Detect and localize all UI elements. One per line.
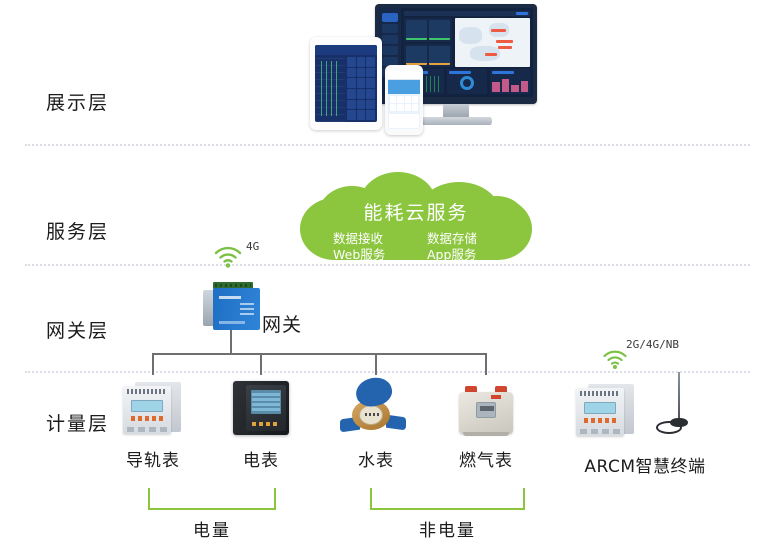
cloud-service-columns: 数据接收 Web服务 数据存储 App服务	[333, 231, 499, 263]
cloud-item-app-service: App服务	[427, 247, 499, 263]
phone-statusbar	[388, 71, 420, 80]
tablet-icon	[310, 37, 382, 130]
gateway-device-icon	[203, 282, 260, 330]
layer-label-service: 服务层	[46, 217, 166, 244]
cloud-title: 能耗云服务	[363, 198, 468, 225]
water-meter-icon	[333, 378, 419, 440]
gateway-network-label: 4G	[246, 240, 259, 253]
widget-gauge	[447, 69, 487, 94]
group-label-electricity: 电量	[148, 516, 276, 541]
tablet-data-grid	[345, 55, 377, 122]
gateway-label: 网关	[262, 310, 302, 337]
arcm-terminal-icon	[570, 378, 720, 446]
gateway-body	[213, 288, 260, 330]
meter-label-din-rail: 导轨表	[110, 446, 196, 471]
dashboard-map-panel	[455, 18, 530, 67]
wire-drop-din-rail	[152, 353, 154, 375]
gas-meter-icon	[443, 378, 529, 440]
dashboard-topbar	[404, 11, 530, 16]
group-label-non-electricity: 非电量	[370, 516, 525, 541]
cloud-column-right: 数据存储 App服务	[427, 231, 499, 263]
wire-gateway-drop	[230, 330, 232, 354]
cloud-item-data-storage: 数据存储	[427, 231, 499, 247]
tablet-body	[315, 55, 377, 122]
wifi-signal-icon-arcm	[602, 348, 628, 369]
tablet-chart-panel	[315, 55, 345, 122]
layer-divider-gateway-metering	[25, 371, 750, 373]
phone-app-grid	[388, 94, 420, 113]
wire-drop-electric	[260, 353, 262, 375]
meter-water: 水表	[333, 378, 419, 471]
tablet-topbar	[315, 45, 377, 55]
cloud-item-data-receive: 数据接收	[333, 231, 405, 247]
cloud-item-web-service: Web服务	[333, 247, 405, 263]
wifi-signal-icon	[213, 244, 243, 268]
wire-drop-gas	[485, 353, 487, 375]
layer-label-display: 展示层	[46, 88, 166, 115]
display-devices-group	[305, 2, 540, 134]
arcm-din-rail-device	[576, 380, 636, 436]
meter-electric: 电表	[218, 378, 304, 471]
dashboard-upper-row	[404, 18, 530, 67]
meter-gas: 燃气表	[443, 378, 529, 471]
layer-label-gateway: 网关层	[46, 316, 166, 343]
din-rail-meter-icon	[110, 378, 196, 440]
bracket-non-electricity	[370, 488, 525, 510]
electric-meter-icon	[218, 378, 304, 440]
meter-label-water: 水表	[333, 446, 419, 471]
arcm-network-label: 2G/4G/NB	[626, 338, 679, 351]
phone-chart-card	[389, 114, 419, 128]
arcm-terminal-label: ARCM智慧终端	[565, 452, 725, 477]
cloud-text-block: 能耗云服务 数据接收 Web服务 数据存储 App服务	[300, 172, 532, 260]
phone-banner	[388, 80, 420, 94]
dashboard-stat-cards	[404, 18, 452, 67]
bracket-electricity	[148, 488, 276, 510]
architecture-diagram: 展示层 服务层 网关层 计量层	[0, 0, 777, 545]
cloud-service-shape: 能耗云服务 数据接收 Web服务 数据存储 App服务	[300, 172, 532, 260]
widget-bar-chart	[490, 69, 530, 94]
monitor-stand-base	[420, 117, 492, 125]
antenna-icon	[656, 372, 696, 438]
tablet-screen	[315, 45, 377, 122]
wire-horizontal-bus	[152, 353, 486, 355]
cloud-column-left: 数据接收 Web服务	[333, 231, 405, 263]
meter-din-rail: 导轨表	[110, 378, 196, 471]
meter-label-electric: 电表	[218, 446, 304, 471]
monitor-stand-neck	[443, 104, 469, 118]
smartphone-icon	[385, 65, 423, 135]
meter-label-gas: 燃气表	[443, 446, 529, 471]
wire-drop-water	[375, 353, 377, 375]
phone-screen	[388, 71, 420, 129]
layer-divider-service-gateway	[25, 264, 750, 266]
layer-divider-display-service	[25, 144, 750, 146]
